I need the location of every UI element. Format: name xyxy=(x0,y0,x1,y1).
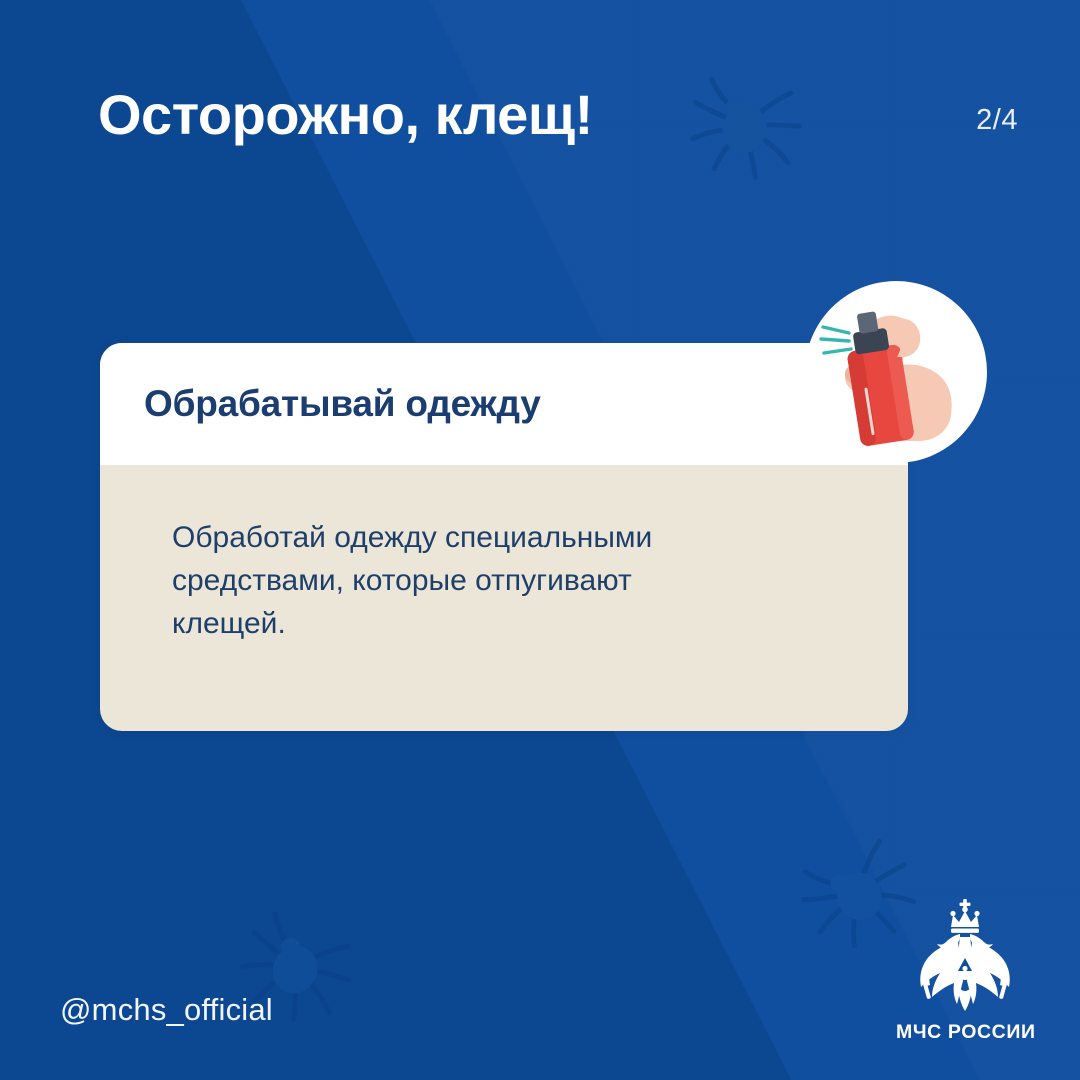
spray-illustration-badge xyxy=(805,281,987,463)
page-title: Осторожно, клещ! xyxy=(98,86,593,145)
hand-holding-spray-bottle-icon xyxy=(805,281,987,463)
slide-counter: 2/4 xyxy=(976,104,1018,137)
advice-card: Обрабатывай одежду Обработай одежду спец… xyxy=(100,343,908,731)
social-handle: @mchs_official xyxy=(60,992,273,1028)
mchs-logo: МЧС РОССИИ xyxy=(896,897,1034,1044)
advice-card-heading: Обрабатывай одежду xyxy=(144,383,541,425)
mchs-logo-text: МЧС РОССИИ xyxy=(896,1021,1034,1044)
mchs-russia-eagle-emblem-icon xyxy=(913,897,1017,1015)
advice-card-text: Обработай одежду специальными средствами… xyxy=(172,517,712,646)
poster-canvas: Осторожно, клещ! 2/4 Обрабатывай одежду … xyxy=(0,0,1080,1080)
advice-card-header: Обрабатывай одежду xyxy=(100,343,908,465)
advice-card-body: Обработай одежду специальными средствами… xyxy=(100,465,908,646)
